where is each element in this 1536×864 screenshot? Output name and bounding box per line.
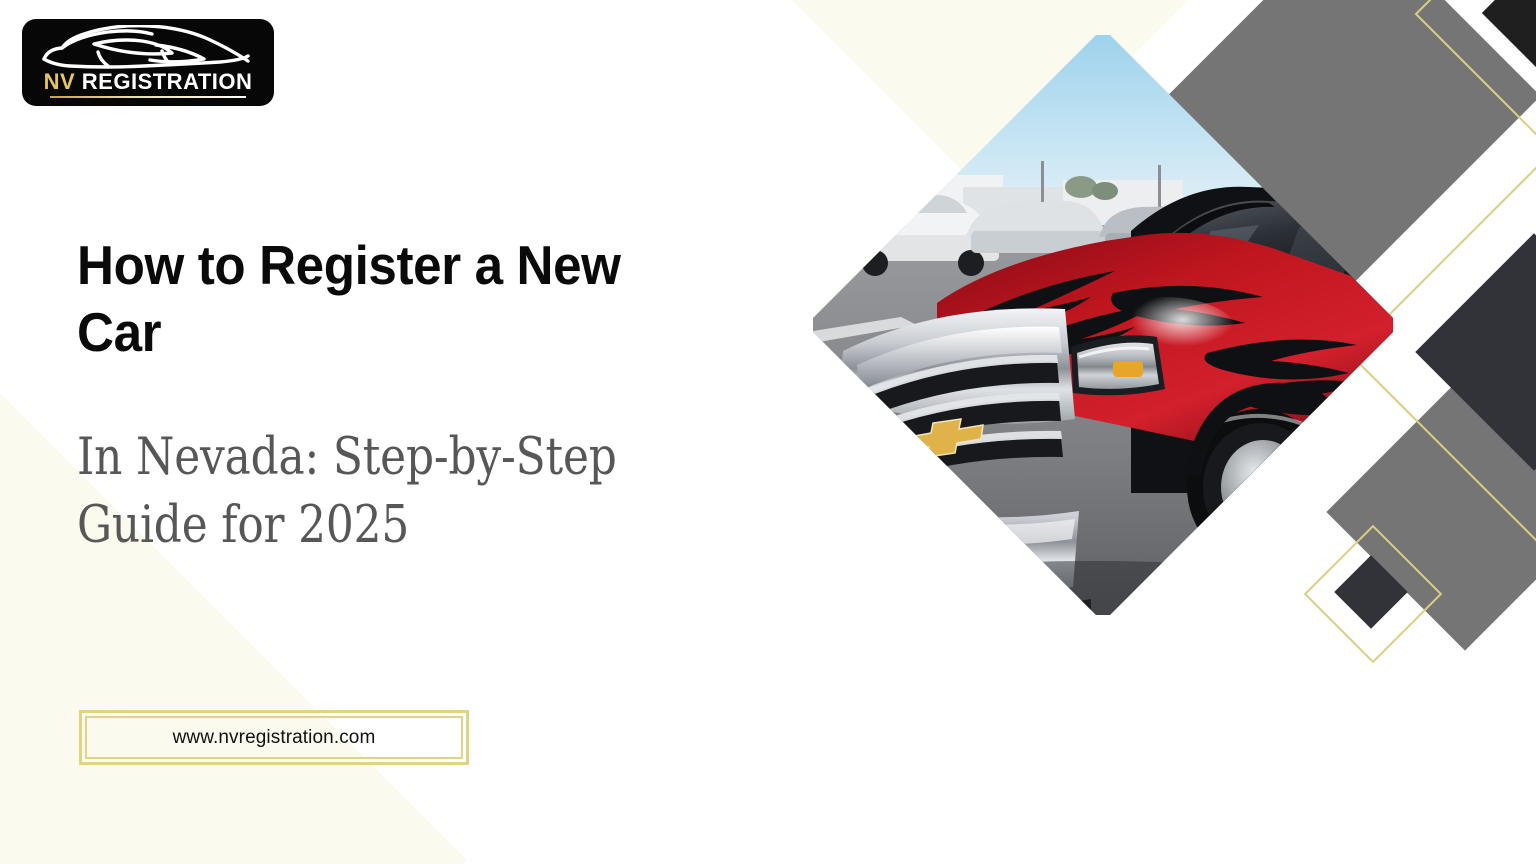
brand-logo[interactable]: NV REGISTRATION [22,19,274,106]
hero-photo-diamond [806,28,1400,622]
logo-wordmark-nv: NV [44,69,76,94]
logo-wordmark: NV REGISTRATION [22,71,274,93]
website-url-text: www.nvregistration.com [173,727,376,749]
logo-underline [50,96,246,98]
page-title: How to Register a New Car [77,232,672,366]
gold-outline-diamond-bottom-shape [1304,525,1443,664]
website-url-badge-inner: www.nvregistration.com [85,716,463,759]
promo-banner: NV REGISTRATION How to Register a New Ca… [0,0,1536,864]
logo-wordmark-registration: REGISTRATION [75,69,252,94]
dark-diamond-right-shape [1415,233,1536,471]
hero-photo-inner [813,35,1393,615]
gold-outline-diamond-mid-shape [1348,164,1536,543]
gold-outline-diamond-top-shape [1415,0,1536,138]
dark-diamond-top-corner-shape [1482,0,1536,68]
website-url-badge[interactable]: www.nvregistration.com [79,710,469,765]
pickup-truck-photo [813,35,1393,615]
sports-car-silhouette-icon [38,25,260,75]
dark-diamond-bottom-small-shape [1334,555,1408,629]
page-subtitle: In Nevada: Step-by-Step Guide for 2025 [77,424,662,561]
gray-diamond-lower-right-shape [1326,373,1536,650]
